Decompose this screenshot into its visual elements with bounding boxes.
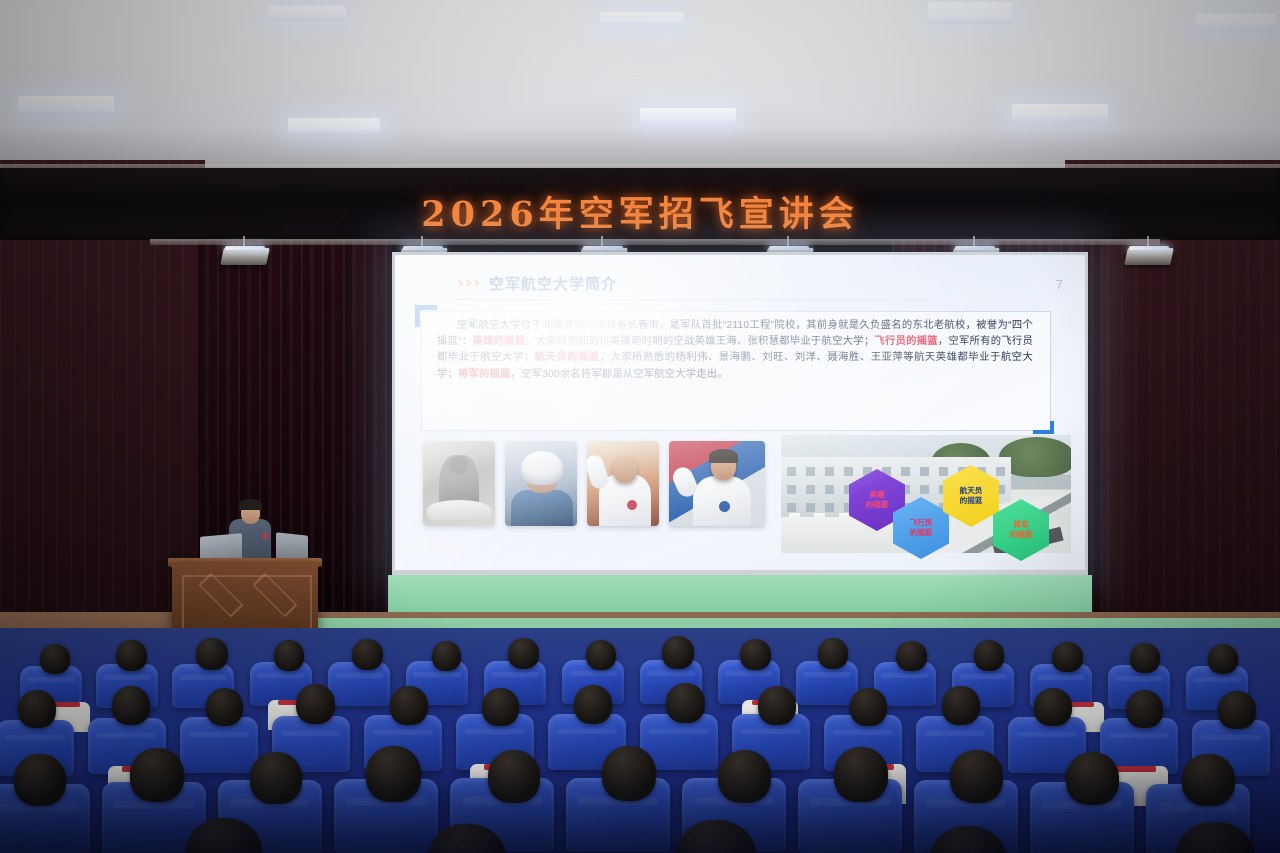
hex-badge-astronaut-cradle: 航天员 的摇篮	[943, 465, 999, 527]
flight-suit	[511, 490, 573, 526]
uniform-insignia	[262, 533, 268, 539]
body-seg-highlight: 英雄的摇篮	[472, 336, 525, 347]
hex-line-1: 飞行员	[910, 518, 933, 528]
event-banner-title: 2026年空军招飞宣讲会	[0, 186, 1280, 237]
audience-head	[432, 641, 461, 671]
audience-head	[834, 747, 888, 802]
spotlight-lens	[769, 246, 809, 250]
ceiling-light-panel	[18, 96, 114, 116]
audience-head	[758, 686, 796, 725]
presenter-hair	[239, 499, 262, 510]
flight-helmet-icon	[521, 451, 563, 485]
audience-head	[1126, 690, 1163, 728]
photo-female-astronaut	[669, 441, 765, 526]
hex-line-1: 英雄	[869, 490, 884, 500]
audience-head	[488, 750, 540, 803]
spotlight-lens	[583, 246, 623, 250]
audience-seating-area	[0, 628, 1280, 853]
ceiling-light-panel	[640, 108, 736, 126]
spotlight-body	[220, 248, 270, 265]
audience-head	[818, 638, 848, 669]
audience-head	[366, 746, 421, 802]
audience-head	[574, 685, 612, 724]
slide-header: ››› 空军航空大学简介	[457, 273, 617, 294]
photo-foreground	[427, 500, 491, 520]
photo-astronaut	[587, 441, 659, 526]
audience-head	[296, 684, 335, 724]
uniform-collar	[1112, 766, 1156, 772]
slide-photo-strip	[423, 441, 765, 526]
audience-head	[662, 636, 694, 669]
textbox-corner-bottom-right	[1033, 421, 1054, 434]
astronaut-face	[613, 457, 637, 483]
audience-head	[1066, 752, 1119, 805]
hex-line-2: 的摇篮	[866, 500, 889, 510]
audience-head	[1182, 754, 1235, 806]
audience-head	[896, 641, 927, 671]
audience-head	[718, 750, 771, 803]
audience-head	[942, 686, 980, 725]
audience-head	[206, 688, 243, 726]
slide-title-underline	[455, 299, 975, 300]
audience-head	[40, 644, 70, 674]
audience-head	[602, 746, 656, 801]
audience-head	[390, 686, 428, 725]
hex-line-1: 航天员	[960, 486, 983, 496]
body-seg-highlight: 航天员的摇篮	[534, 352, 599, 363]
audience-head	[1208, 644, 1238, 674]
ceiling-light-panel	[1012, 104, 1108, 124]
hexagon-badge-group: 英雄 的摇篮 飞行员 的摇篮 航天员 的摇篮 将军 的摇篮	[843, 465, 1073, 561]
audience-head	[116, 640, 147, 671]
ceiling-light-panel	[928, 2, 1012, 24]
audience-head	[274, 640, 304, 671]
audience-head	[1034, 688, 1072, 726]
audience-head	[1052, 642, 1083, 672]
audience-head	[196, 638, 228, 670]
hex-line-2: 的摇篮	[1010, 530, 1033, 540]
suit-patch	[719, 501, 730, 512]
audience-head	[740, 639, 771, 670]
chevron-right-icon: ›››	[457, 275, 480, 292]
audience-head	[850, 688, 887, 726]
slide-title: 空军航空大学简介	[489, 273, 617, 294]
body-seg-highlight: 将军的摇篮	[458, 369, 510, 380]
screenshot-root: 2026年空军招飞宣讲会 ›››	[0, 0, 1280, 853]
audience-head	[18, 690, 56, 728]
ceiling-shading	[0, 0, 1280, 182]
audience-head	[352, 639, 383, 670]
ceiling-light-panel	[288, 118, 380, 136]
spotlight-lens	[225, 246, 265, 250]
spotlight-lens	[955, 246, 995, 250]
hex-line-2: 的摇篮	[960, 496, 983, 506]
ceiling-light-panel	[1196, 14, 1276, 30]
ceiling-light-panel	[268, 6, 346, 21]
audience-head	[508, 638, 539, 669]
audience-head	[112, 686, 150, 725]
ceiling-light-panel	[600, 12, 684, 27]
suit-patch	[627, 500, 637, 510]
audience-head	[482, 688, 519, 726]
slide-body-text: 空军航空大学位于北国春城的吉林省长春市，是军队首批“2110工程”院校，其前身就…	[437, 318, 1033, 383]
hex-badge-general-cradle: 将军 的摇篮	[993, 499, 1049, 561]
ceiling	[0, 0, 1280, 182]
audience-head	[950, 750, 1003, 803]
body-seg: ，空军300余名将军都是从空军航空大学走出。	[510, 369, 727, 380]
photo-historic-pilot	[423, 441, 495, 526]
audience-head	[1218, 691, 1256, 729]
projection-screen-frame: ››› 空军航空大学简介 7 空军航空大学位于北国春城的吉林省长春市，是军队首批…	[392, 252, 1088, 577]
spotlight-lens	[1129, 246, 1169, 250]
audience-head	[250, 752, 302, 804]
audience-head	[14, 754, 66, 806]
lighting-truss	[150, 239, 1160, 245]
audience-head	[974, 640, 1004, 671]
photo-fighter-pilot	[505, 441, 577, 526]
hex-line-2: 的摇篮	[910, 528, 933, 538]
audience-head	[1130, 643, 1160, 673]
audience-head	[666, 683, 705, 723]
spotlight-body	[1124, 248, 1174, 265]
projected-slide: ››› 空军航空大学简介 7 空军航空大学位于北国春城的吉林省长春市，是军队首批…	[395, 255, 1085, 570]
body-seg: ，大家所熟知的抗美援朝时期的空战英雄王海、张积慧都毕业于航空大学；	[525, 336, 874, 347]
audience-head	[586, 640, 616, 670]
body-seg-highlight: 飞行员的摇篮	[874, 336, 938, 347]
slide-page-number: 7	[1056, 277, 1063, 292]
hex-line-1: 将军	[1013, 520, 1028, 530]
audience-head	[130, 748, 184, 802]
spotlight-lens	[403, 246, 443, 250]
astronaut-hair	[709, 449, 738, 463]
